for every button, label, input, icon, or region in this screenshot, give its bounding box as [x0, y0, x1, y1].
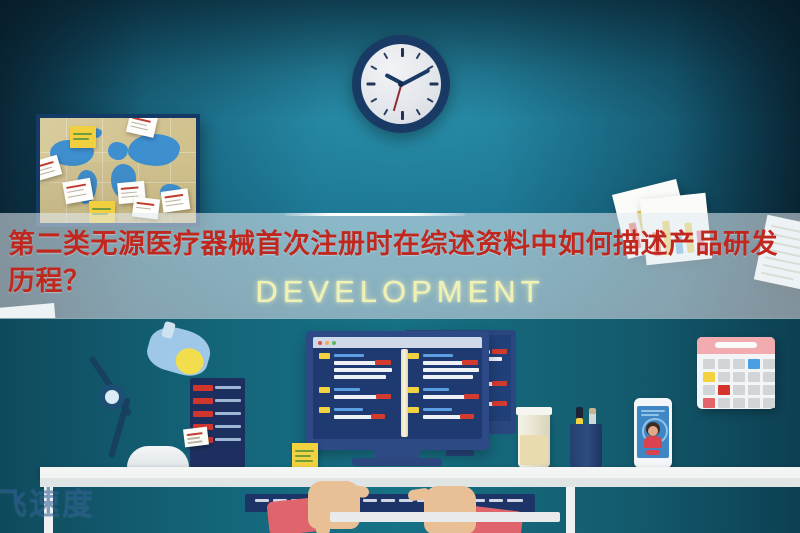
- wall-clock-icon: [352, 35, 450, 133]
- world-map-pinboard: [36, 114, 200, 227]
- continent-europe: [108, 142, 128, 160]
- desktop-monitor: [306, 331, 489, 450]
- pinned-note: [161, 188, 191, 213]
- avatar-body: [644, 436, 662, 448]
- banner-image: DEVELOPMENT 第二类无源医疗器械首次注册时在综述资料中如何描述产品研发…: [0, 0, 800, 533]
- monitor-sticky-note: [292, 443, 318, 469]
- calendar-header: [697, 337, 775, 354]
- wall-calendar: [697, 337, 775, 409]
- pinned-note: [126, 118, 158, 138]
- desk-surface: [40, 467, 800, 478]
- pencil-holder: [570, 424, 602, 468]
- monitor-book-spine: [401, 349, 408, 437]
- title-divider: [285, 213, 465, 216]
- watermark-text: 飞速度: [0, 478, 95, 523]
- coffee-lid: [516, 407, 552, 415]
- clock-center-pin: [398, 81, 404, 87]
- desk-edge: [40, 478, 800, 487]
- lamp-joint: [99, 384, 125, 410]
- monitor-stand: [374, 450, 420, 458]
- pinboard-surface: [40, 118, 196, 223]
- monitor-column-left: [319, 351, 395, 435]
- pencil-tip: [589, 408, 596, 414]
- phone-screen: [637, 406, 669, 458]
- browser-toolbar: [313, 337, 482, 348]
- coffee-cup: [518, 412, 550, 468]
- clock-minute-hand: [401, 68, 430, 86]
- monitor-column-right: [408, 351, 482, 435]
- keyboard-tray: [330, 512, 560, 522]
- monitor-foot: [352, 458, 442, 466]
- clock-face: [361, 44, 441, 124]
- avatar-face: [648, 426, 658, 436]
- coffee-fill: [520, 435, 548, 465]
- monitor-screen: [313, 337, 482, 439]
- smartphone: [634, 398, 672, 468]
- desk-leg-right: [566, 487, 575, 533]
- unit-sticky-note: [183, 427, 209, 448]
- sticky-note: [70, 126, 96, 148]
- page-title: 第二类无源医疗器械首次注册时在综述资料中如何描述产品研发历程？: [8, 226, 798, 300]
- left-finger: [316, 518, 330, 533]
- wall-unit: [190, 378, 245, 467]
